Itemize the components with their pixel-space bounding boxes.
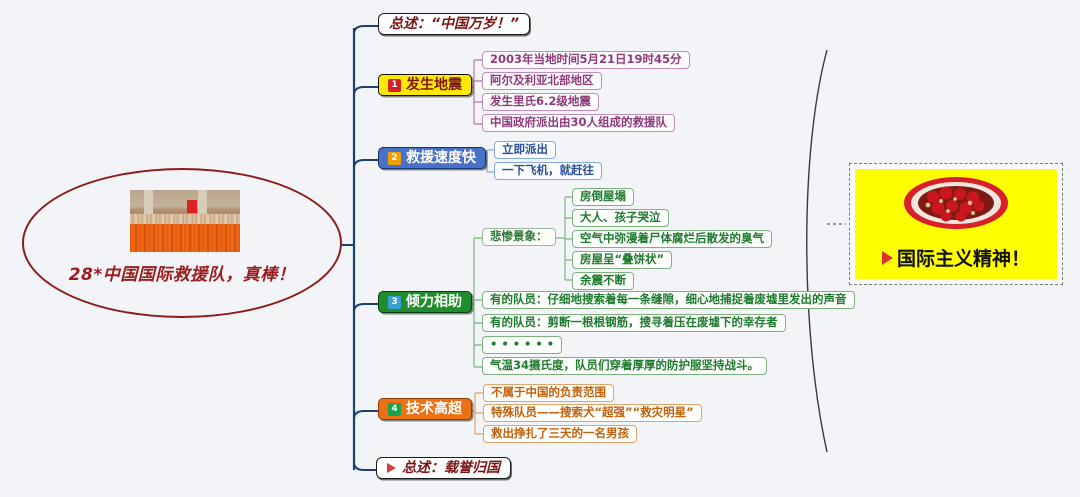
branch-node-3[interactable]: 3 倾力相助 <box>378 291 472 313</box>
leaf-text: 气温34摄氏度，队员们穿着厚厚的防护服坚持战斗。 <box>490 360 759 372</box>
top-summary-node[interactable]: 总述：“中国万岁！” <box>378 13 530 35</box>
branch-label-2: 救援速度快 <box>406 151 476 165</box>
leaf-4-2[interactable]: 特殊队员——搜索犬“超强”“救灾明星” <box>483 404 702 422</box>
branch-node-1[interactable]: 1 发生地震 <box>378 74 472 96</box>
poster-label-row: 国际主义精神！ <box>882 244 1030 271</box>
poster-panel[interactable]: 国际主义精神！ <box>849 163 1063 285</box>
leaf-text: 救出挣扎了三天的一名男孩 <box>491 428 629 440</box>
bottom-summary-label: 总述：载誉归国 <box>402 461 500 475</box>
rescue-team-photo <box>130 190 240 252</box>
center-title: 28*中国国际救援队，真棒！ <box>22 260 342 285</box>
leaf-text: 房倒屋塌 <box>580 191 626 203</box>
leaf-3-g2[interactable]: 大人、孩子哭泣 <box>572 209 669 227</box>
branch-label-4: 技术高超 <box>406 402 462 416</box>
branch-label-3: 倾力相助 <box>406 295 462 309</box>
leaf-3-3[interactable]: • • • • • • <box>482 336 562 354</box>
leaf-1-1[interactable]: 2003年当地时间5月21日19时45分 <box>482 51 690 69</box>
leaf-3-4[interactable]: 气温34摄氏度，队员们穿着厚厚的防护服坚持战斗。 <box>482 357 767 375</box>
leaf-text: 大人、孩子哭泣 <box>580 212 661 224</box>
leaf-text: 空气中弥漫着尸体腐烂后散发的臭气 <box>580 233 764 245</box>
leaf-3-g5[interactable]: 余震不断 <box>572 272 634 290</box>
leaf-text: 2003年当地时间5月21日19时45分 <box>490 54 682 66</box>
center-node[interactable]: 28*中国国际救援队，真棒！ <box>22 168 342 318</box>
leaf-1-3[interactable]: 发生里氏6.2级地震 <box>482 93 599 111</box>
leaf-4-3[interactable]: 救出挣扎了三天的一名男孩 <box>483 425 637 443</box>
leaf-text: 房屋呈“叠饼状” <box>580 254 664 266</box>
leaf-2-1[interactable]: 立即派出 <box>494 141 556 159</box>
leaf-text: 中国政府派出由30人组成的救援队 <box>490 117 667 129</box>
leaf-4-1[interactable]: 不属于中国的负责范围 <box>483 384 614 402</box>
bottom-summary-node[interactable]: 总述：载誉归国 <box>376 457 511 479</box>
red-flag-icon <box>882 251 893 265</box>
branch-badge-1: 1 <box>388 79 401 92</box>
leaf-text: 阿尔及利亚北部地区 <box>490 75 594 87</box>
leaf-text: • • • • • • <box>490 339 554 351</box>
top-summary-label: 总述：“中国万岁！” <box>389 17 519 31</box>
rose-bouquet-image <box>903 175 1009 231</box>
leaf-3-g3[interactable]: 空气中弥漫着尸体腐烂后散发的臭气 <box>572 230 772 248</box>
leaf-text: 有的队员：剪断一根根钢筋，搜寻着压在废墟下的幸存者 <box>490 317 778 329</box>
branch-label-1: 发生地震 <box>406 78 462 92</box>
leaf-text: 立即派出 <box>502 144 548 156</box>
leaf-text: 不属于中国的负责范围 <box>491 387 606 399</box>
leaf-3-2[interactable]: 有的队员：剪断一根根钢筋，搜寻着压在废墟下的幸存者 <box>482 314 786 332</box>
leaf-3-1[interactable]: 有的队员：仔细地搜索着每一条缝隙，细心地捕捉着废墟里发出的声音 <box>482 291 855 309</box>
leaf-1-4[interactable]: 中国政府派出由30人组成的救援队 <box>482 114 675 132</box>
poster-inner: 国际主义精神！ <box>855 169 1057 279</box>
leaf-text: 余震不断 <box>580 275 626 287</box>
leaf-1-2[interactable]: 阿尔及利亚北部地区 <box>482 72 602 90</box>
leaf-text: 有的队员：仔细地搜索着每一条缝隙，细心地捕捉着废墟里发出的声音 <box>490 294 847 306</box>
mindmap-canvas: 28*中国国际救援队，真棒！ 总述：“中国万岁！” 1 发生地震 2003年当地… <box>0 0 1080 497</box>
leaf-3-g4[interactable]: 房屋呈“叠饼状” <box>572 251 672 269</box>
branch-badge-3: 3 <box>388 296 401 309</box>
leaf-3-g1[interactable]: 房倒屋塌 <box>572 188 634 206</box>
branch-node-2[interactable]: 2 救援速度快 <box>378 147 486 169</box>
red-triangle-icon <box>387 463 396 473</box>
flag-icon <box>187 200 197 213</box>
poster-label: 国际主义精神！ <box>897 244 1030 271</box>
branch-badge-4: 4 <box>388 403 401 416</box>
branch-node-4[interactable]: 4 技术高超 <box>378 398 472 420</box>
group-label: 悲惨景象： <box>490 231 548 243</box>
branch-badge-2: 2 <box>388 152 401 165</box>
leaf-text: 特殊队员——搜索犬“超强”“救灾明星” <box>491 407 694 419</box>
leaf-text: 一下飞机，就赶往 <box>502 165 594 177</box>
leaf-2-2[interactable]: 一下飞机，就赶往 <box>494 162 602 180</box>
leaf-text: 发生里氏6.2级地震 <box>490 96 591 108</box>
group-node-tragic-scene[interactable]: 悲惨景象： <box>482 228 556 246</box>
